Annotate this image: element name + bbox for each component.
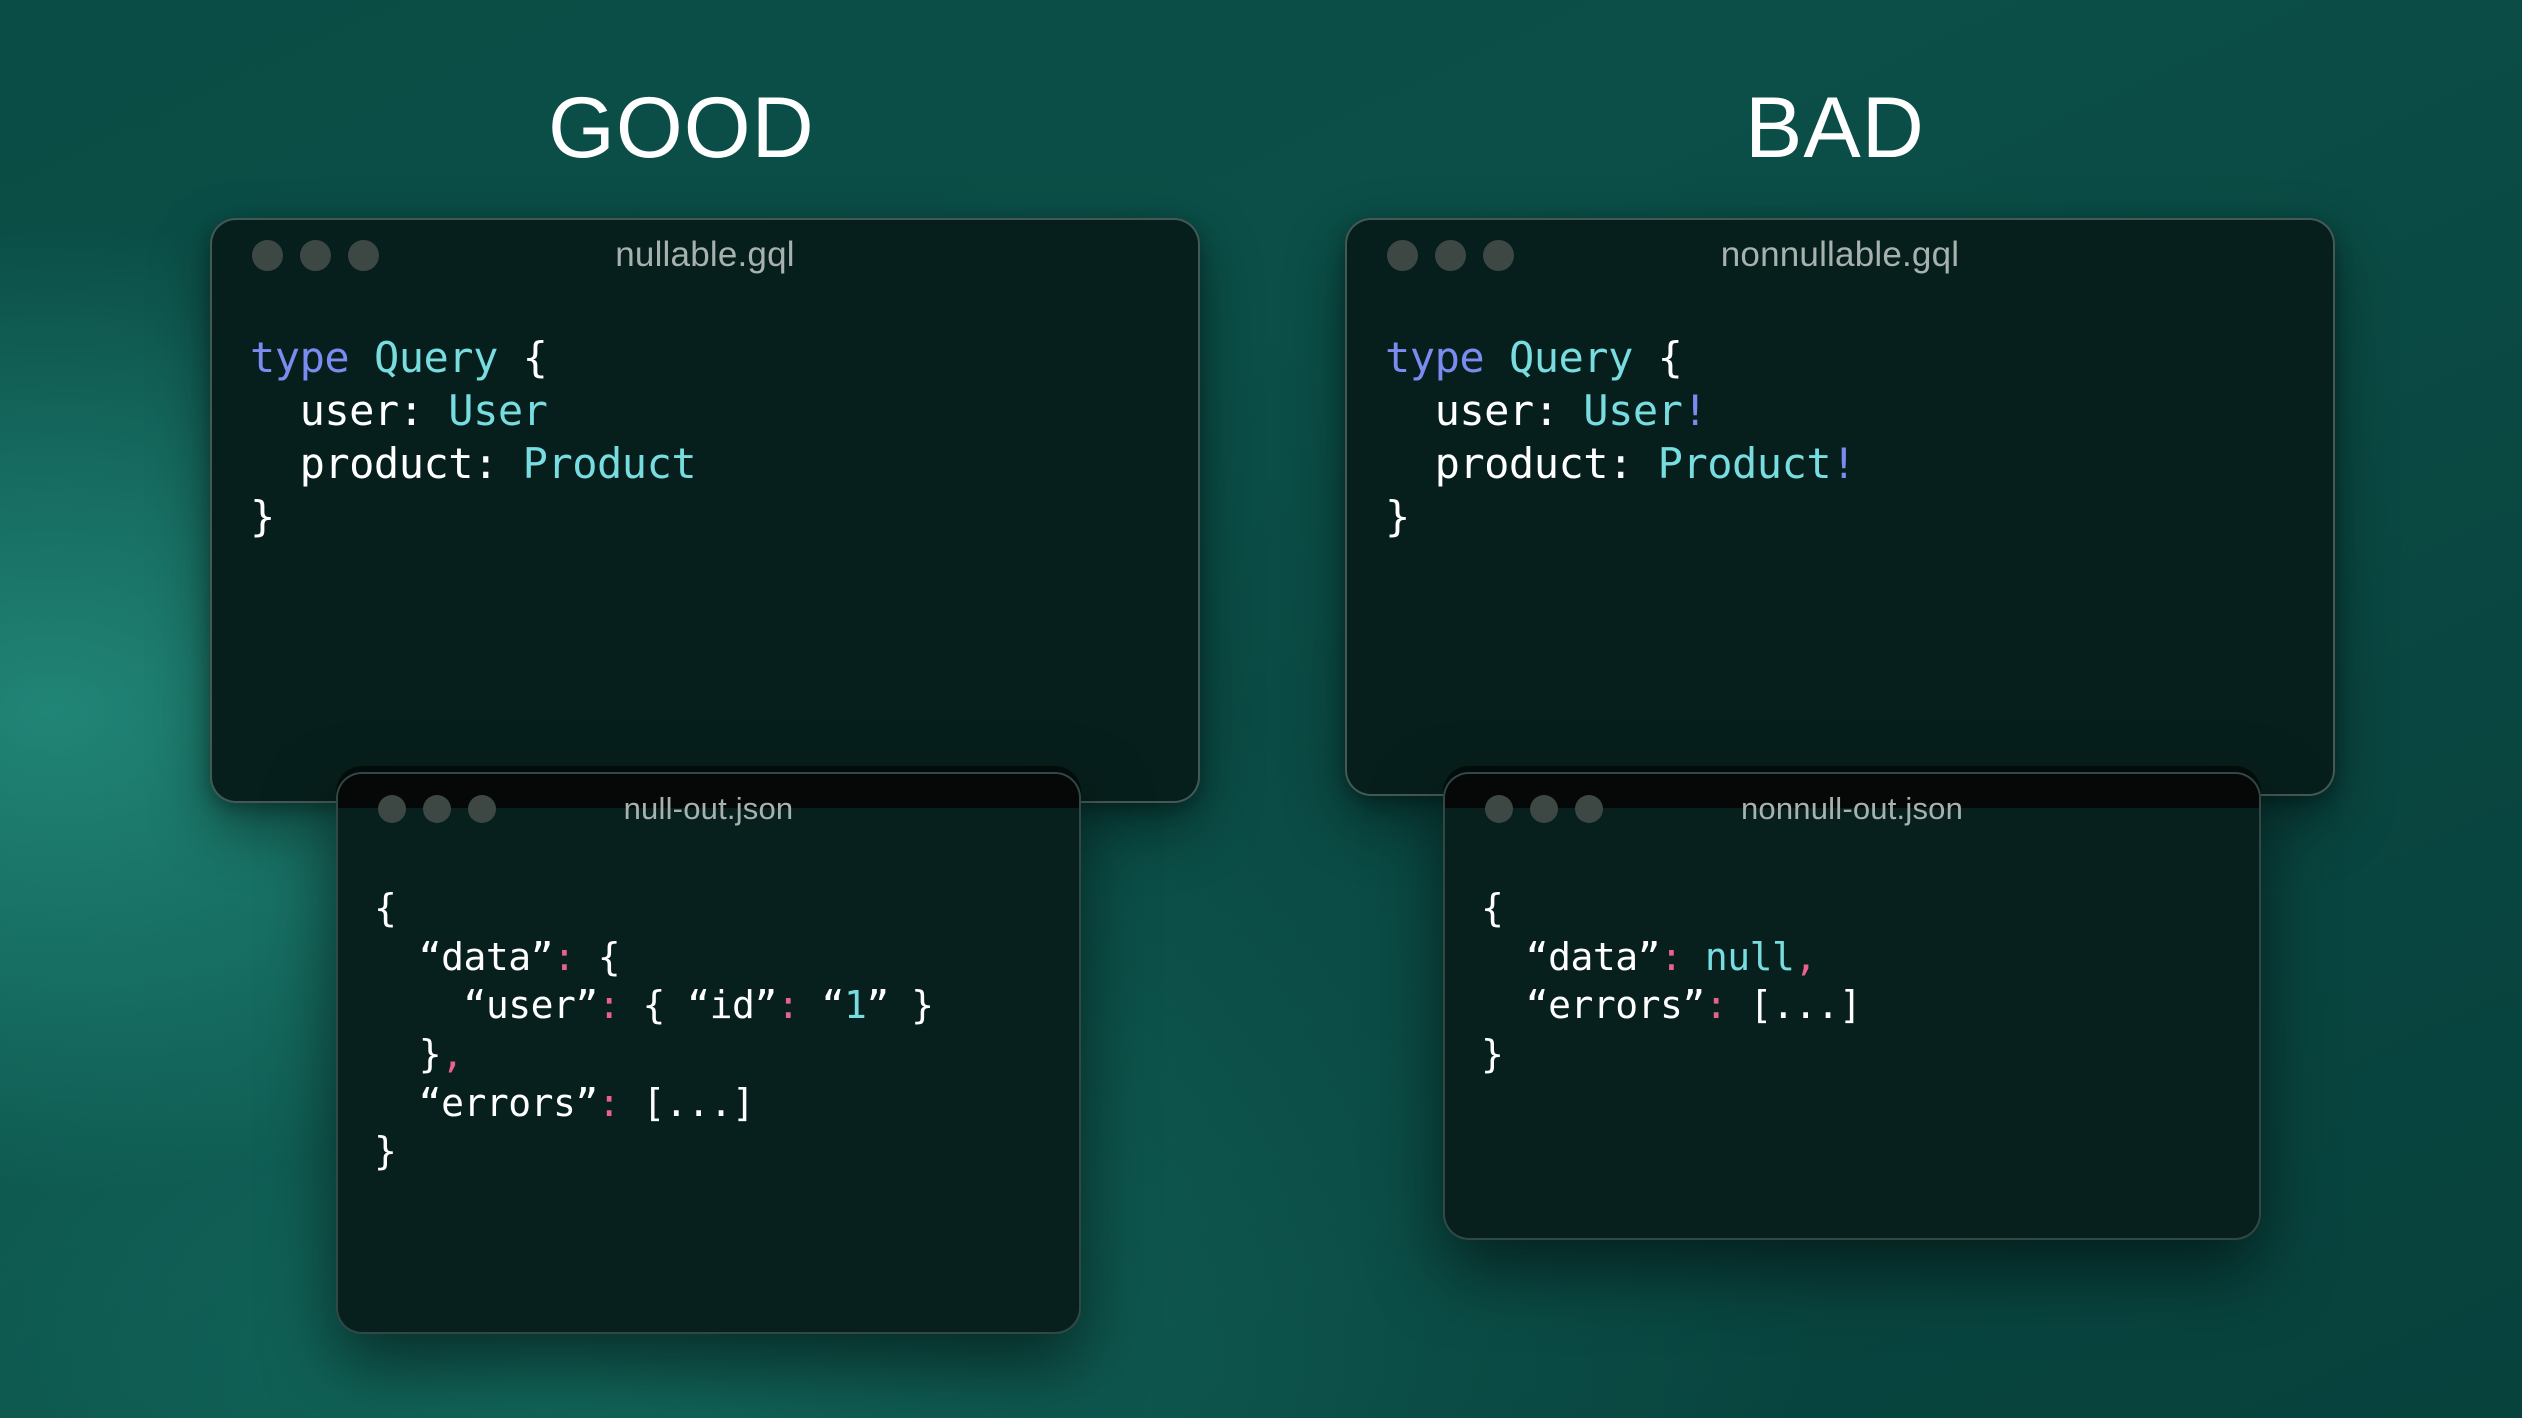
- code-token: }: [1481, 1032, 1503, 1076]
- window-nonnull-out-json[interactable]: nonnull-out.json { “data”: null, “errors…: [1443, 772, 2261, 1240]
- traffic-dot-red[interactable]: [1485, 795, 1513, 823]
- code-token: Product: [523, 439, 697, 488]
- code-line: type Query {: [1385, 332, 2333, 385]
- window-titlebar: nonnullable.gql: [1347, 220, 2333, 290]
- code-token: [349, 333, 374, 382]
- traffic-dot-red[interactable]: [1387, 240, 1418, 271]
- code-token: Product: [1658, 439, 1832, 488]
- code-token: Query: [374, 333, 498, 382]
- code-line: {: [1481, 884, 2259, 933]
- code-token: :: [553, 935, 575, 979]
- slide-canvas: GOOD BAD nullable.gql type Query { user:…: [0, 0, 2522, 1418]
- code-token: }: [1385, 492, 1410, 541]
- code-token: “errors”: [374, 1081, 598, 1125]
- code-token: product:: [250, 439, 523, 488]
- code-line: “errors”: [...]: [1481, 981, 2259, 1030]
- code-line: product: Product: [250, 438, 1198, 491]
- code-token: :: [777, 983, 799, 1027]
- code-token: }: [374, 1032, 441, 1076]
- code-token: Query: [1509, 333, 1633, 382]
- code-token: User: [448, 386, 547, 435]
- code-token: “user”: [374, 983, 598, 1027]
- code-token: User: [1583, 386, 1682, 435]
- code-block-nonnull-out-json: { “data”: null, “errors”: [...]}: [1445, 844, 2259, 1079]
- code-line: }: [1385, 491, 2333, 544]
- window-titlebar: nonnull-out.json: [1445, 774, 2259, 844]
- window-nonnullable-gql[interactable]: nonnullable.gql type Query { user: User!…: [1345, 218, 2335, 796]
- traffic-lights: [378, 795, 496, 823]
- code-token: ” }: [866, 983, 933, 1027]
- code-token: :: [598, 1081, 620, 1125]
- code-token: “data”: [374, 935, 553, 979]
- code-token: user:: [250, 386, 448, 435]
- code-line: }: [250, 491, 1198, 544]
- code-line: user: User: [250, 385, 1198, 438]
- column-heading-good: GOOD: [548, 85, 815, 171]
- code-line: product: Product!: [1385, 438, 2333, 491]
- code-line: user: User!: [1385, 385, 2333, 438]
- code-token: }: [374, 1129, 396, 1173]
- code-line: },: [374, 1030, 1079, 1079]
- code-token: !: [1831, 439, 1856, 488]
- code-token: type: [250, 333, 349, 382]
- traffic-lights: [1387, 240, 1514, 271]
- window-titlebar: nullable.gql: [212, 220, 1198, 290]
- traffic-dot-yellow[interactable]: [423, 795, 451, 823]
- traffic-dot-red[interactable]: [378, 795, 406, 823]
- code-token: “errors”: [1481, 983, 1705, 1027]
- code-token: product:: [1385, 439, 1658, 488]
- traffic-dot-green[interactable]: [348, 240, 379, 271]
- traffic-dot-green[interactable]: [1483, 240, 1514, 271]
- code-token: [...]: [1727, 983, 1861, 1027]
- traffic-dot-green[interactable]: [1575, 795, 1603, 823]
- code-token: user:: [1385, 386, 1583, 435]
- code-line: type Query {: [250, 332, 1198, 385]
- code-line: “user”: { “id”: “1” }: [374, 981, 1079, 1030]
- code-line: }: [374, 1127, 1079, 1176]
- code-token: }: [250, 492, 275, 541]
- code-token: {: [575, 935, 620, 979]
- code-token: “data”: [1481, 935, 1660, 979]
- code-token: :: [598, 983, 620, 1027]
- code-token: ,: [1794, 935, 1816, 979]
- window-nullable-gql[interactable]: nullable.gql type Query { user: User pro…: [210, 218, 1200, 803]
- code-token: [...]: [620, 1081, 754, 1125]
- code-line: }: [1481, 1030, 2259, 1079]
- code-block-nonnullable-gql: type Query { user: User! product: Produc…: [1347, 290, 2333, 544]
- traffic-dot-yellow[interactable]: [1435, 240, 1466, 271]
- code-line: “data”: {: [374, 933, 1079, 982]
- code-token: null: [1705, 935, 1795, 979]
- code-token: [1484, 333, 1509, 382]
- code-token: type: [1385, 333, 1484, 382]
- code-token: :: [1705, 983, 1727, 1027]
- code-token: [1682, 935, 1704, 979]
- code-token: { “id”: [620, 983, 777, 1027]
- traffic-lights: [252, 240, 379, 271]
- code-block-nullable-gql: type Query { user: User product: Product…: [212, 290, 1198, 544]
- code-token: {: [498, 333, 548, 382]
- column-heading-bad: BAD: [1745, 85, 1925, 171]
- traffic-dot-yellow[interactable]: [300, 240, 331, 271]
- window-null-out-json[interactable]: null-out.json { “data”: { “user”: { “id”…: [336, 772, 1081, 1334]
- code-token: {: [1481, 886, 1503, 930]
- traffic-dot-green[interactable]: [468, 795, 496, 823]
- traffic-lights: [1485, 795, 1603, 823]
- code-token: ,: [441, 1032, 463, 1076]
- traffic-dot-red[interactable]: [252, 240, 283, 271]
- code-token: {: [374, 886, 396, 930]
- code-line: {: [374, 884, 1079, 933]
- code-token: {: [1633, 333, 1683, 382]
- code-token: :: [1660, 935, 1682, 979]
- code-token: “: [799, 983, 844, 1027]
- code-line: “errors”: [...]: [374, 1079, 1079, 1128]
- code-token: 1: [844, 983, 866, 1027]
- code-block-null-out-json: { “data”: { “user”: { “id”: “1” } }, “er…: [338, 844, 1079, 1176]
- traffic-dot-yellow[interactable]: [1530, 795, 1558, 823]
- code-line: “data”: null,: [1481, 933, 2259, 982]
- code-token: !: [1682, 386, 1707, 435]
- window-titlebar: null-out.json: [338, 774, 1079, 844]
